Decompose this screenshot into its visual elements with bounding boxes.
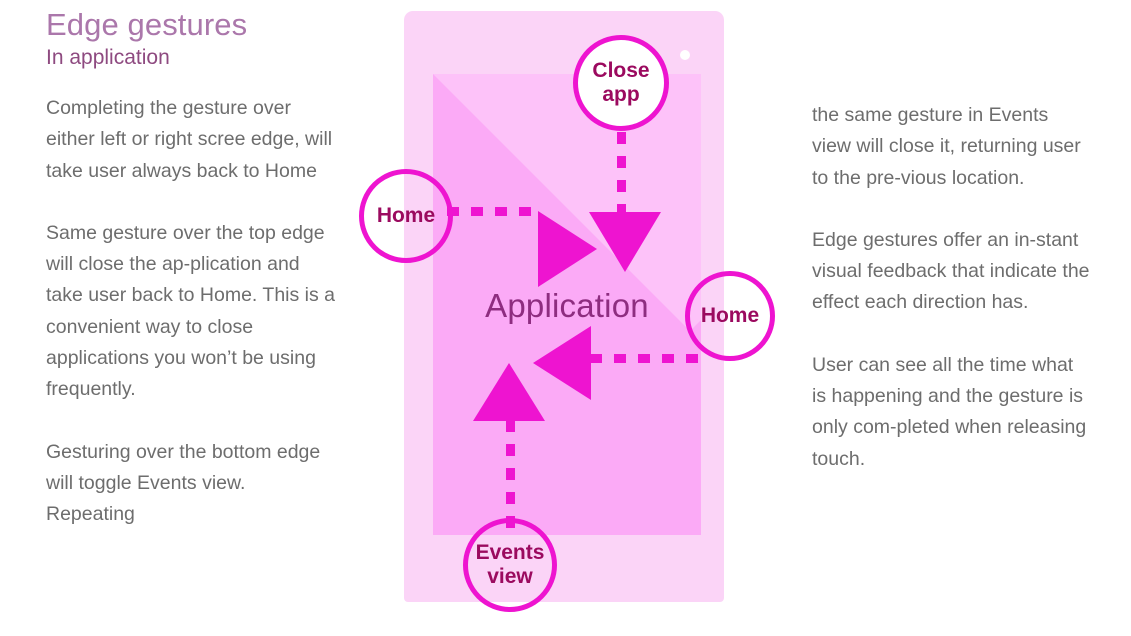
left-paragraph-3: Gesturing over the bottom edge will togg… — [46, 437, 336, 531]
bubble-home-left[interactable]: Home — [359, 169, 453, 263]
right-text-column: the same gesture in Events view will clo… — [812, 100, 1092, 475]
right-paragraph-1: the same gesture in Events view will clo… — [812, 100, 1092, 194]
arrow-up-icon — [473, 363, 545, 421]
edge-gesture-diagram: Application Close app Home Home Events v… — [355, 0, 775, 636]
bubble-events-view[interactable]: Events view — [463, 518, 557, 612]
bubble-close-app[interactable]: Close app — [573, 35, 669, 131]
page-subtitle: In application — [46, 44, 336, 71]
connector-home-right — [590, 354, 698, 363]
right-paragraph-3: User can see all the time what is happen… — [812, 350, 1092, 475]
page-title: Edge gestures — [46, 6, 336, 44]
left-paragraph-1: Completing the gesture over either left … — [46, 93, 336, 187]
application-label: Application — [433, 286, 701, 326]
right-paragraph-2: Edge gestures offer an in-stant visual f… — [812, 225, 1092, 319]
left-paragraph-2: Same gesture over the top edge will clos… — [46, 218, 336, 406]
arrow-down-icon — [589, 212, 661, 272]
application-screen: Application — [433, 74, 701, 535]
phone-camera-icon — [680, 50, 690, 60]
left-text-column: Edge gestures In application Completing … — [46, 6, 336, 531]
connector-home-left — [447, 207, 539, 216]
bubble-home-right[interactable]: Home — [685, 271, 775, 361]
